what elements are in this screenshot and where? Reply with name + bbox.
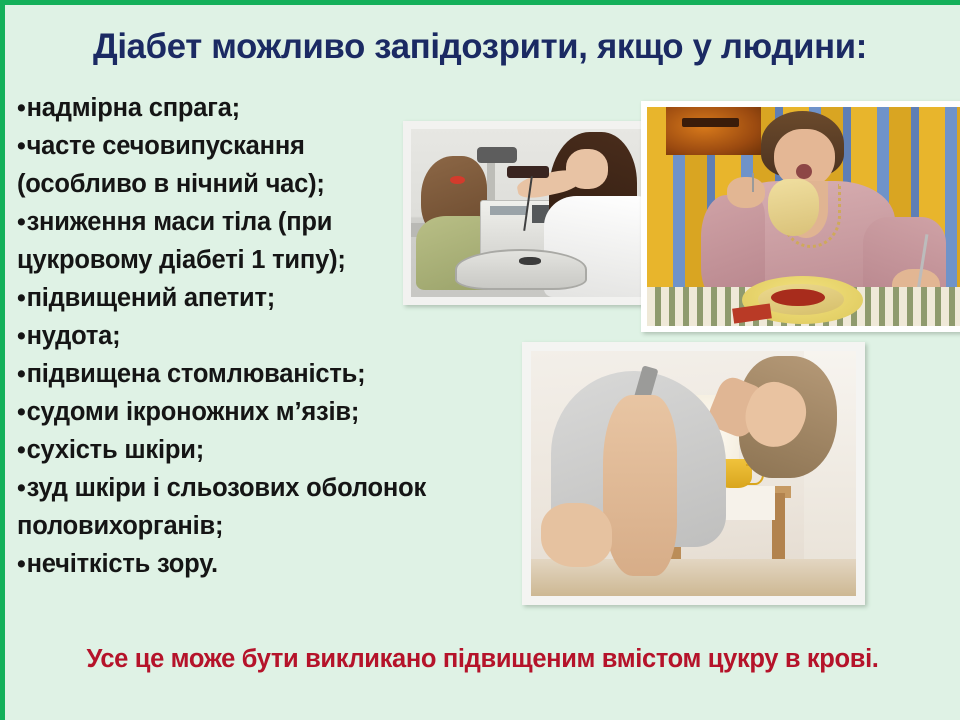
photo-eating: Жінка їсть спагеті за столом xyxy=(641,101,960,332)
slide-canvas: Діабет можливо запідозрити, якщо у людин… xyxy=(0,0,960,720)
symptom-item: підвищена стомлюваність; xyxy=(17,355,517,393)
symptom-list: надмірна спрага;часте сечовипускання(осо… xyxy=(17,89,517,583)
symptom-item: зуд шкіри і сльозових оболонок xyxy=(17,469,517,507)
wall-lamp-fixture xyxy=(682,118,739,127)
symptom-line-continuation: цукровому діабеті 1 типу); xyxy=(17,241,517,279)
symptom-item: судоми ікроножних м’язів; xyxy=(17,393,517,431)
photo-stomach-pain: Жінка тримається за живіт xyxy=(522,342,865,605)
photo-stomach-pain-content xyxy=(531,351,856,596)
woman-arm xyxy=(603,395,678,576)
fork xyxy=(752,173,754,193)
symptom-item: надмірна спрага; xyxy=(17,89,517,127)
symptom-item: сухість шкіри; xyxy=(17,431,517,469)
symptom-item: часте сечовипускання xyxy=(17,127,517,165)
woman-left-hand xyxy=(727,177,765,208)
footer-note: Усе це може бути викликано підвищеним вм… xyxy=(5,645,960,674)
symptom-item: нудота; xyxy=(17,317,517,355)
symptom-item: зниження маси тіла (при xyxy=(17,203,517,241)
symptom-item: підвищений апетит; xyxy=(17,279,517,317)
symptom-line-continuation: (особливо в нічний час); xyxy=(17,165,517,203)
table-object xyxy=(519,257,541,265)
symptom-line-continuation: половихорганів; xyxy=(17,507,517,545)
page-title: Діабет можливо запідозрити, якщо у людин… xyxy=(10,27,951,67)
wall-lamp-glow xyxy=(666,107,761,155)
symptom-item: нечіткість зору. xyxy=(17,545,517,583)
pasta-strands xyxy=(768,179,819,236)
woman-hand-on-abdomen xyxy=(541,503,613,567)
photo-eating-content xyxy=(647,107,960,326)
